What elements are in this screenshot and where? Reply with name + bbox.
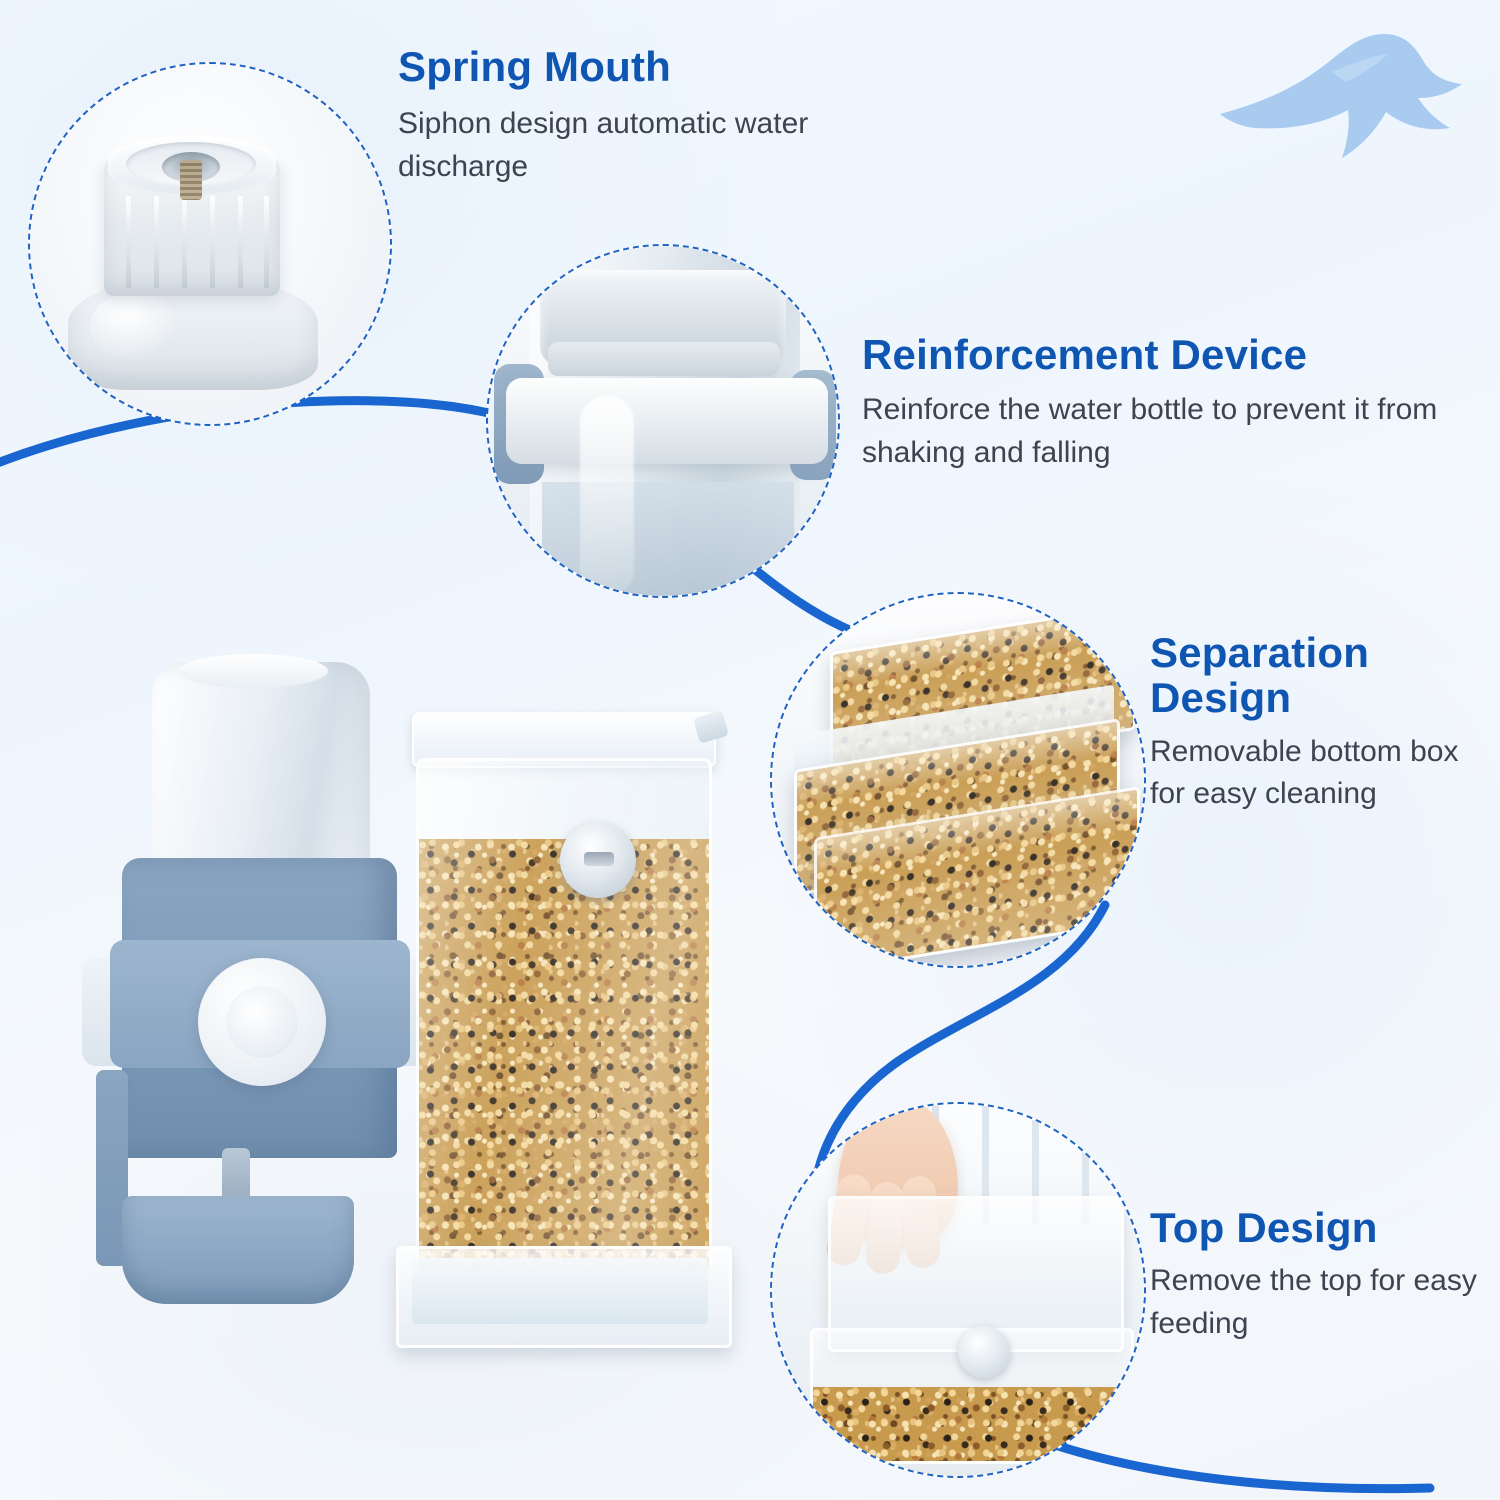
- callout-top-design: Top Design Remove the top for easy feedi…: [1150, 1205, 1480, 1346]
- flying-bird-icon: [1212, 12, 1472, 202]
- callout-desc-reinforcement-device: Reinforce the water bottle to prevent it…: [862, 389, 1500, 474]
- callout-title-top-design: Top Design: [1150, 1205, 1480, 1250]
- callout-title-reinforcement-device: Reinforcement Device: [862, 332, 1500, 377]
- bubble-spring-mouth-photo: [28, 62, 392, 426]
- callout-title-spring-mouth: Spring Mouth: [398, 44, 868, 89]
- callout-desc-separation-design: Removable bottom box for easy cleaning: [1150, 731, 1495, 816]
- callout-spring-mouth: Spring Mouth Siphon design automatic wat…: [398, 44, 868, 189]
- product-group: [60, 640, 760, 1380]
- callout-title-separation-design: Separation Design: [1150, 630, 1495, 721]
- callout-separation-design: Separation Design Removable bottom box f…: [1150, 630, 1495, 816]
- bubble-reinforcement-photo: [486, 244, 840, 598]
- bubble-separation-photo: [770, 592, 1146, 968]
- bubble-top-design-photo: [770, 1102, 1146, 1478]
- callout-desc-top-design: Remove the top for easy feeding: [1150, 1260, 1480, 1345]
- callout-reinforcement-device: Reinforcement Device Reinforce the water…: [862, 332, 1500, 475]
- callout-desc-spring-mouth: Siphon design automatic water discharge: [398, 103, 868, 188]
- infographic-canvas: Spring Mouth Siphon design automatic wat…: [0, 0, 1500, 1500]
